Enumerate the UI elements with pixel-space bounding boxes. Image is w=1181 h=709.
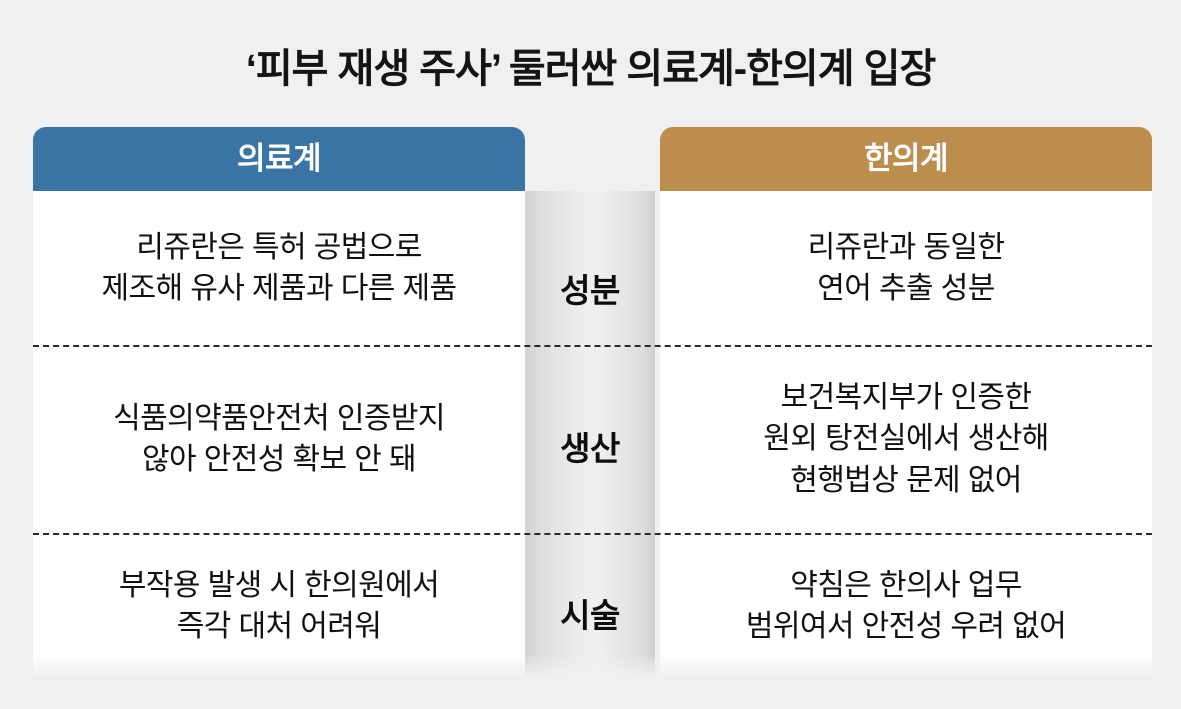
column-medical: 의료계 리쥬란은 특허 공법으로 제조해 유사 제품과 다른 제품 식품의약품안… <box>33 127 525 679</box>
category-label-ingredient: 성분 <box>525 264 655 312</box>
cell-line: 원외 탕전실에서 생산해 <box>763 418 1048 459</box>
table-cell-right-row2: 보건복지부가 인증한 원외 탕전실에서 생산해 현행법상 문제 없어 <box>660 345 1152 533</box>
column-body-medical: 리쥬란은 특허 공법으로 제조해 유사 제품과 다른 제품 식품의약품안전처 인… <box>33 191 525 679</box>
column-body-oriental-medicine: 리쥬란과 동일한 연어 추출 성분 보건복지부가 인증한 원외 탕전실에서 생산… <box>660 191 1152 679</box>
cell-line: 현행법상 문제 없어 <box>790 460 1021 501</box>
column-header-medical: 의료계 <box>33 127 525 191</box>
cell-line: 범위여서 안전성 우려 없어 <box>746 606 1066 647</box>
table-cell-right-row3: 약침은 한의사 업무 범위여서 안전성 우려 없어 <box>660 533 1152 679</box>
cell-line: 식품의약품안전처 인증받지 <box>113 398 445 439</box>
cell-line: 부작용 발생 시 한의원에서 <box>119 565 439 606</box>
comparison-table: 의료계 리쥬란은 특허 공법으로 제조해 유사 제품과 다른 제품 식품의약품안… <box>33 127 1152 679</box>
cell-line: 리쥬란과 동일한 <box>808 227 1005 268</box>
row-divider-1 <box>33 345 1152 347</box>
table-cell-left-row3: 부작용 발생 시 한의원에서 즉각 대처 어려워 <box>33 533 525 679</box>
table-cell-left-row1: 리쥬란은 특허 공법으로 제조해 유사 제품과 다른 제품 <box>33 191 525 345</box>
table-cell-left-row2: 식품의약품안전처 인증받지 않아 안전성 확보 안 돼 <box>33 345 525 533</box>
cell-line: 리쥬란은 특허 공법으로 <box>136 227 421 268</box>
category-label-procedure: 시술 <box>525 589 655 637</box>
cell-line: 즉각 대처 어려워 <box>177 606 381 647</box>
column-header-oriental-medicine: 한의계 <box>660 127 1152 191</box>
cell-line: 않아 안전성 확보 안 돼 <box>142 439 416 480</box>
cell-line: 보건복지부가 인증한 <box>781 377 1032 418</box>
cell-line: 약침은 한의사 업무 <box>790 565 1021 606</box>
column-oriental-medicine: 한의계 리쥬란과 동일한 연어 추출 성분 보건복지부가 인증한 원외 탕전실에… <box>660 127 1152 679</box>
category-label-production: 생산 <box>525 422 655 470</box>
table-cell-right-row1: 리쥬란과 동일한 연어 추출 성분 <box>660 191 1152 345</box>
page-title: ‘피부 재생 주사’ 둘러싼 의료계-한의계 입장 <box>0 36 1181 94</box>
row-divider-2 <box>33 533 1152 535</box>
cell-line: 연어 추출 성분 <box>817 268 994 309</box>
cell-line: 제조해 유사 제품과 다른 제품 <box>102 268 457 309</box>
